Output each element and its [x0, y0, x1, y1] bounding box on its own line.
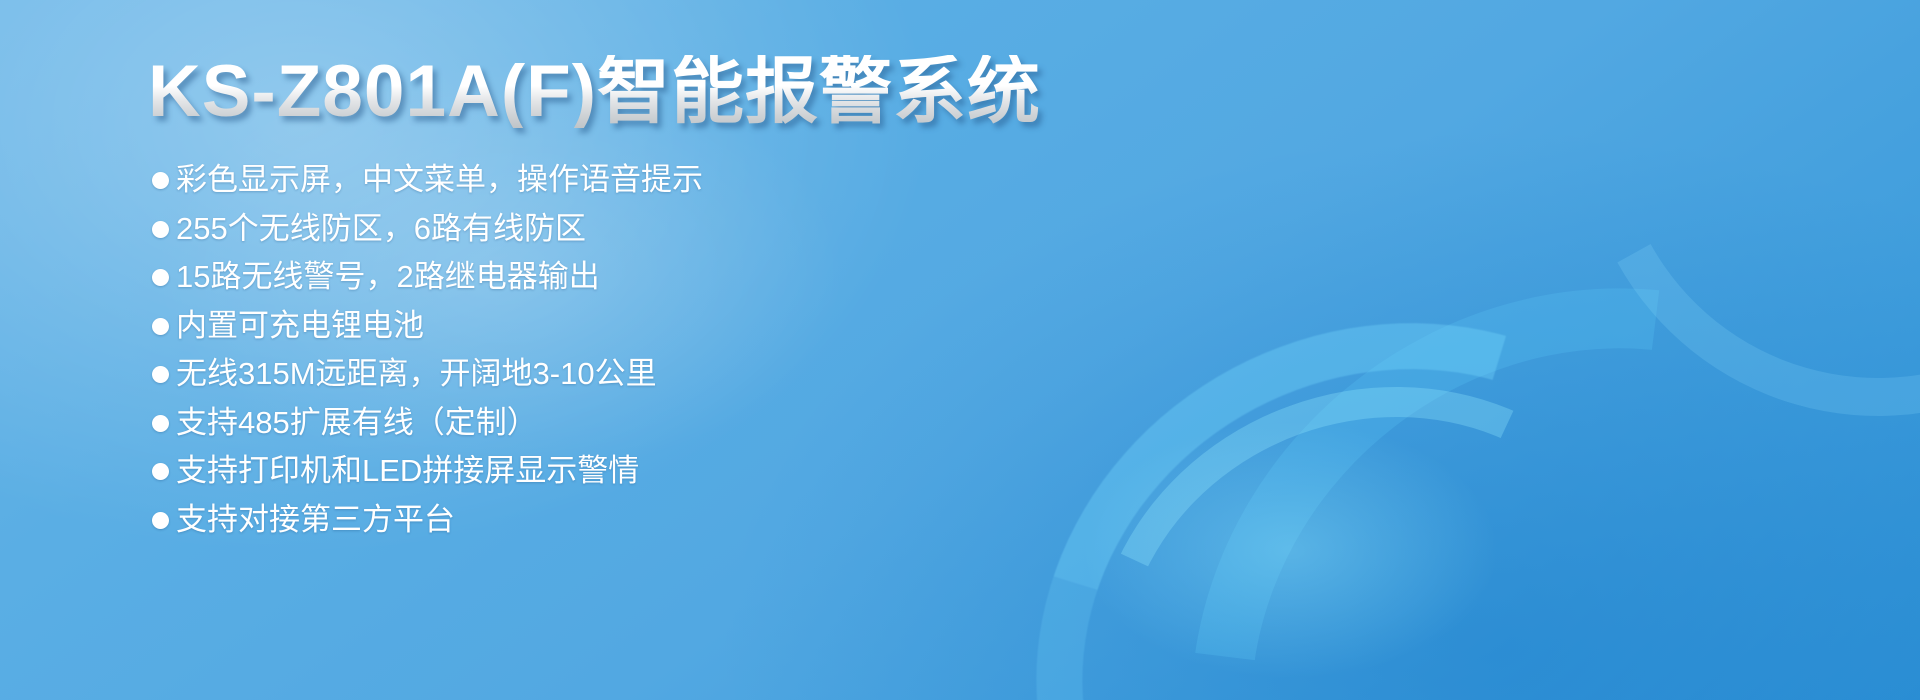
- bullet-dot-icon: [152, 318, 169, 335]
- feature-label: 15路无线警号，2路继电器输出: [176, 253, 600, 302]
- feature-item: 彩色显示屏，中文菜单，操作语音提示: [152, 156, 952, 205]
- bullet-dot-icon: [152, 366, 169, 383]
- feature-item: 无线315M远距离，开阔地3-10公里: [152, 350, 952, 399]
- feature-item: 支持对接第三方平台: [152, 496, 952, 545]
- feature-label: 支持打印机和LED拼接屏显示警情: [176, 447, 639, 496]
- bullet-dot-icon: [152, 221, 169, 238]
- feature-label: 255个无线防区，6路有线防区: [176, 205, 586, 254]
- bullet-dot-icon: [152, 269, 169, 286]
- feature-label: 内置可充电锂电池: [176, 302, 424, 351]
- feature-label: 彩色显示屏，中文菜单，操作语音提示: [176, 156, 703, 205]
- feature-label: 无线315M远距离，开阔地3-10公里: [176, 350, 657, 399]
- feature-list: 彩色显示屏，中文菜单，操作语音提示 255个无线防区，6路有线防区 15路无线警…: [152, 156, 952, 544]
- feature-item: 内置可充电锂电池: [152, 302, 952, 351]
- feature-item: 支持485扩展有线（定制）: [152, 399, 952, 448]
- feature-label: 支持485扩展有线（定制）: [176, 399, 538, 448]
- bullet-dot-icon: [152, 512, 169, 529]
- feature-item: 255个无线防区，6路有线防区: [152, 205, 952, 254]
- promo-banner: KS-Z801A(F)智能报警系统 彩色显示屏，中文菜单，操作语音提示 255个…: [0, 0, 1920, 700]
- product-title: KS-Z801A(F)智能报警系统: [148, 55, 1041, 128]
- bullet-dot-icon: [152, 172, 169, 189]
- feature-item: 15路无线警号，2路继电器输出: [152, 253, 952, 302]
- bullet-dot-icon: [152, 463, 169, 480]
- alarm-panel-device: 22 27 04-01-01 从列网 总电 备电 故障: [940, 0, 1920, 700]
- text-content-area: KS-Z801A(F)智能报警系统 彩色显示屏，中文菜单，操作语音提示 255个…: [0, 0, 960, 700]
- feature-item: 支持打印机和LED拼接屏显示警情: [152, 447, 952, 496]
- bullet-dot-icon: [152, 415, 169, 432]
- feature-label: 支持对接第三方平台: [176, 496, 455, 545]
